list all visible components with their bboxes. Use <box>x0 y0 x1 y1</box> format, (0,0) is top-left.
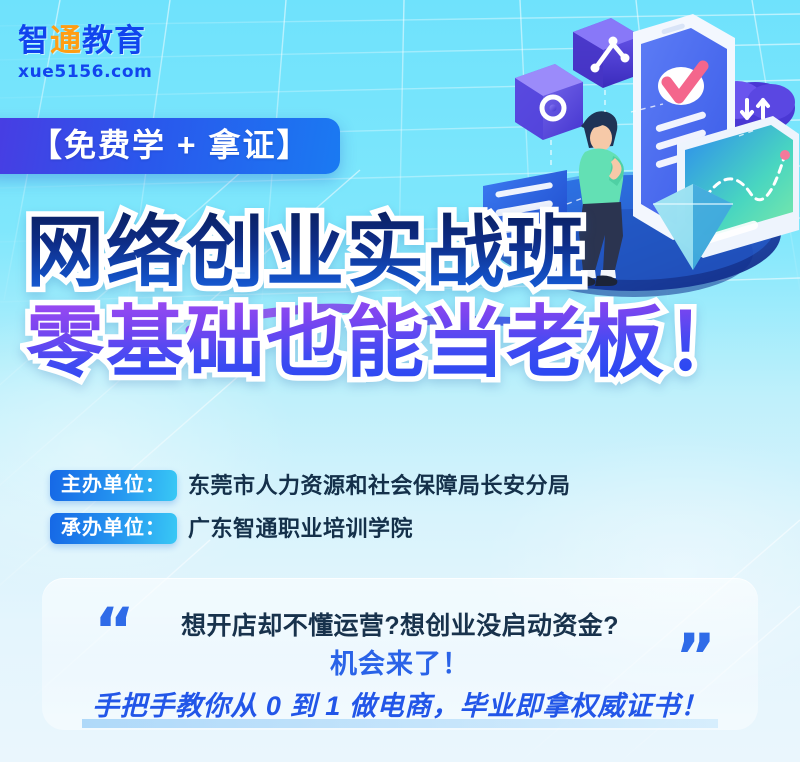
organizer-value-host: 东莞市人力资源和社会保障局长安分局 <box>188 475 571 497</box>
brand-logo: 智通教育 xue5156.com <box>18 26 152 82</box>
organizer-label-organizer: 承办单位： <box>50 513 177 544</box>
headline-line-2-text: 零基础也能当老板！ <box>26 298 746 388</box>
share-network-icon <box>573 18 641 88</box>
organizer-list: 主办单位： 东莞市人力资源和社会保障局长安分局 承办单位： 广东智通职业培训学院 <box>50 470 571 556</box>
free-study-badge: 【免费学 + 拿证】 <box>0 118 340 174</box>
brand-url: xue5156.com <box>18 62 152 82</box>
quote-card: “ ” 想开店却不懂运营?想创业没启动资金? 机会来了！ 手把手教你从 0 到 … <box>42 578 758 730</box>
brand-name: 智通教育 <box>18 26 152 57</box>
gear-icon <box>515 64 583 140</box>
promo-poster: 智通教育 xue5156.com 【免费学 + 拿证】 网络创业实战班 网络创业… <box>0 0 800 762</box>
free-study-badge-label: 【免费学 + 拿证】 <box>30 127 310 163</box>
organizer-label-host: 主办单位： <box>50 470 177 501</box>
brand-name-accent: 通 <box>50 23 82 59</box>
organizer-row: 主办单位： 东莞市人力资源和社会保障局长安分局 <box>50 470 571 501</box>
headline-block: 网络创业实战班 网络创业实战班 零基础也能当老板！ 零基础也能当老板！ <box>26 214 746 382</box>
quote-line-3: 手把手教你从 0 到 1 做电商，毕业即拿权威证书！ <box>86 684 714 726</box>
brand-name-part1: 智 <box>18 23 50 59</box>
quote-line-3-wrapper: 手把手教你从 0 到 1 做电商，毕业即拿权威证书！ <box>42 684 758 726</box>
organizer-value-organizer: 广东智通职业培训学院 <box>188 518 413 540</box>
quote-line-2: 机会来了！ <box>42 642 758 681</box>
headline-line-1-text: 网络创业实战班 <box>26 208 586 298</box>
headline-line-2: 零基础也能当老板！ 零基础也能当老板！ <box>26 304 746 382</box>
headline-line-1: 网络创业实战班 网络创业实战班 <box>26 214 746 292</box>
brand-name-part2: 教育 <box>82 23 146 59</box>
organizer-row: 承办单位： 广东智通职业培训学院 <box>50 513 571 544</box>
quote-line-1: 想开店却不懂运营?想创业没启动资金? <box>42 606 758 642</box>
